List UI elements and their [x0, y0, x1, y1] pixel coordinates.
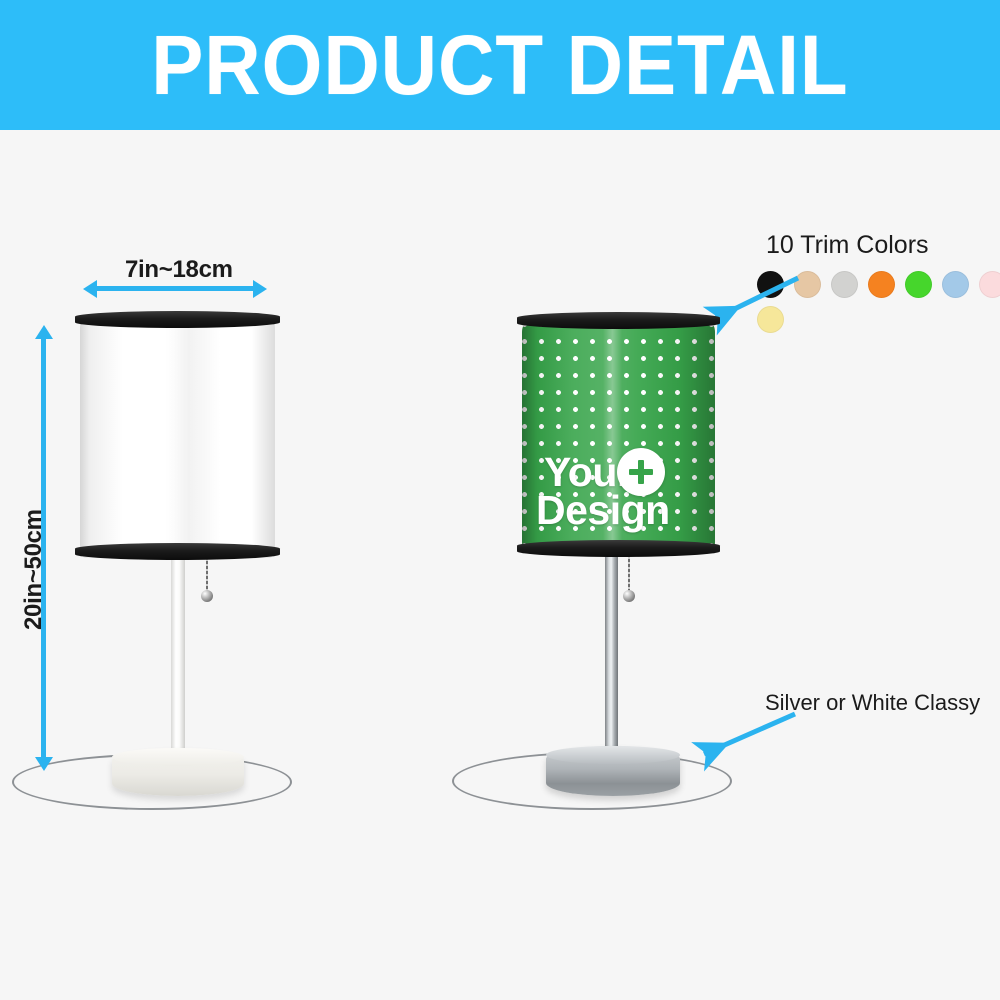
page-header-banner: PRODUCT DETAIL	[0, 0, 1000, 130]
trim-swatch-light-gray[interactable]	[831, 271, 858, 298]
design-text-line2: Design	[536, 490, 670, 530]
white-lamp-base	[112, 748, 244, 796]
height-dimension-arrow	[41, 338, 46, 758]
green-shade-top-trim	[517, 312, 720, 329]
white-shade-bottom-trim	[75, 543, 280, 560]
custom-lamp-shade: Your Design	[522, 322, 715, 552]
chain-ball	[623, 590, 635, 602]
trim-colors-title: 10 Trim Colors	[766, 231, 929, 260]
trim-swatch-light-blue[interactable]	[942, 271, 969, 298]
custom-lamp-pole	[605, 552, 618, 757]
trim-swatch-orange[interactable]	[868, 271, 895, 298]
chain-beads	[206, 556, 208, 594]
width-dimension-arrow	[96, 286, 254, 291]
base-finish-pointer-arrow	[690, 710, 810, 770]
white-base-top	[112, 748, 244, 766]
plus-in-circle-icon	[617, 448, 665, 496]
chain-beads	[628, 554, 630, 594]
width-dimension-label: 7in~18cm	[125, 256, 233, 284]
green-shade-bottom-trim	[517, 540, 720, 557]
trim-swatch-green[interactable]	[905, 271, 932, 298]
trim-swatch-pink[interactable]	[979, 271, 1000, 298]
product-detail-page: PRODUCT DETAIL Your	[0, 0, 1000, 1000]
page-title: PRODUCT DETAIL	[151, 23, 848, 107]
custom-lamp-base	[546, 746, 680, 796]
trim-colors-title-label: 10 Trim Colors	[766, 231, 929, 259]
white-shade-top-trim	[75, 311, 280, 328]
white-lamp-pull-chain[interactable]	[200, 556, 220, 606]
white-shade-surface	[80, 318, 275, 558]
width-dimension-value: 7in~18cm	[125, 256, 233, 283]
white-lamp-shade	[80, 318, 275, 558]
custom-lamp-pull-chain[interactable]	[622, 554, 642, 606]
silver-base-top	[546, 746, 680, 764]
white-lamp-pole	[171, 558, 185, 758]
chain-ball	[201, 590, 213, 602]
